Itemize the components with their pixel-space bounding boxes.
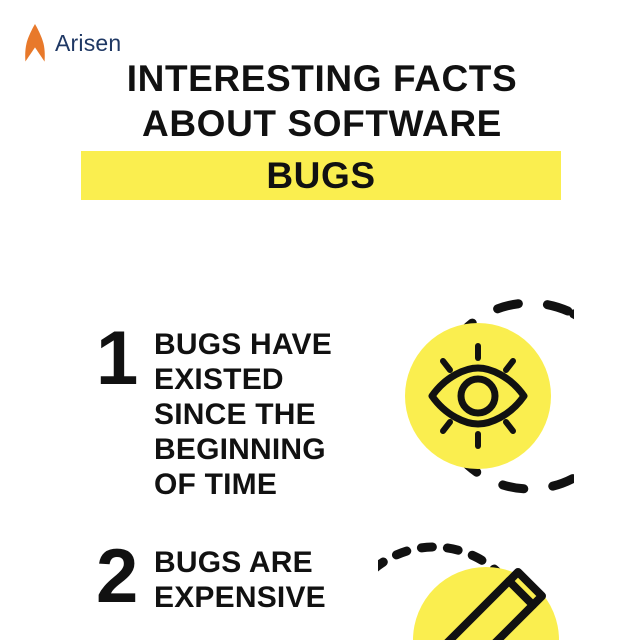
fact-icon-2 [378, 528, 574, 640]
fact-text-2: BUGS ARE EXPENSIVE [154, 540, 369, 615]
eye-icon [388, 294, 574, 498]
fact-number-2: 2 [96, 540, 154, 614]
fact-item-2: 2 BUGS ARE EXPENSIVE [96, 540, 369, 615]
title-line-2: ABOUT SOFTWARE [82, 101, 562, 146]
fact-item-1: 1 BUGS HAVE EXISTED SINCE THE BEGINNING … [96, 322, 369, 502]
page-title: INTERESTING FACTS ABOUT SOFTWARE [82, 56, 562, 146]
infographic-poster: Arisen INTERESTING FACTS ABOUT SOFTWARE … [0, 0, 640, 640]
fact-number-1: 1 [96, 322, 154, 396]
title-line-1: INTERESTING FACTS [82, 56, 562, 101]
flame-logo-icon [22, 24, 48, 62]
fact-text-1: BUGS HAVE EXISTED SINCE THE BEGINNING OF… [154, 322, 369, 502]
title-highlight-bar: BUGS [81, 151, 561, 200]
brand-name: Arisen [55, 32, 121, 55]
pencil-icon [378, 528, 574, 640]
title-highlight-text: BUGS [81, 151, 561, 200]
fact-icon-1 [388, 294, 574, 498]
